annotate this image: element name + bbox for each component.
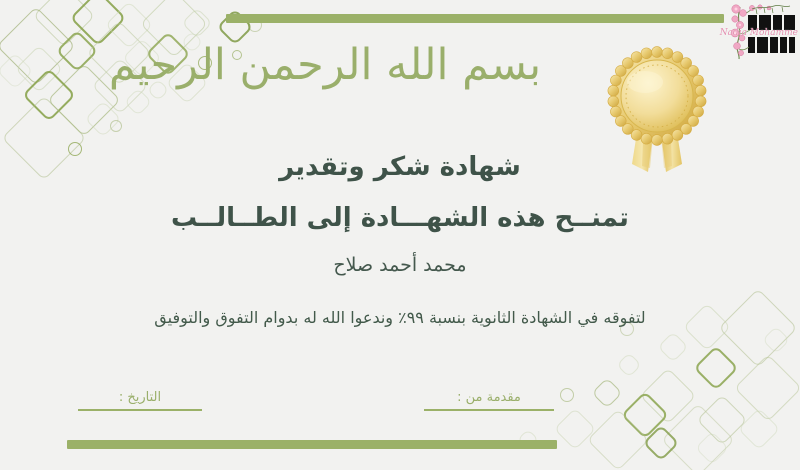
page-title: شهادة شكر وتقدير [0,152,800,182]
decorative-diamond [557,385,577,405]
decorative-diamond [695,431,729,465]
decorative-diamond [734,354,800,422]
logo-script-text: Nadia Mohamme [726,28,798,38]
decorative-diamond [661,403,735,470]
decorative-diamond [587,409,649,470]
bottom-divider-bar [67,440,557,449]
certificate-body-text: لتفوقه في الشهادة الثانوية بنسبة ٩٩٪ وند… [0,308,800,327]
decorative-diamond [85,101,122,138]
issued-by-field-label[interactable]: مقدمة من : [424,390,554,411]
date-field-label[interactable]: التاريخ : [78,390,202,411]
decorative-diamond [33,0,95,47]
decorative-diamond [738,408,780,450]
decorative-diamond [108,118,125,135]
decorative-diamond [591,377,622,408]
decorative-diamond [621,391,669,439]
certificate: بسم الله الرحمن الرحيم [0,0,800,470]
recipient-name: محمد أحمد صلاح [0,254,800,276]
decorative-diamond [124,88,152,116]
certificate-subtitle: تمنــح هذه الشهـــادة إلى الطــالــب [0,203,800,233]
decorative-diamond [181,7,212,38]
decorative-diamond [697,395,748,446]
decorative-diamond [616,352,641,377]
decorative-diamond [762,326,790,354]
decorative-diamond [693,345,738,390]
decorative-diamond [640,368,697,425]
top-divider-bar [226,14,724,23]
decorative-diamond [718,288,797,367]
decorative-diamond [554,408,596,450]
decorative-diamond [657,331,688,362]
decorative-diamond [643,425,680,462]
